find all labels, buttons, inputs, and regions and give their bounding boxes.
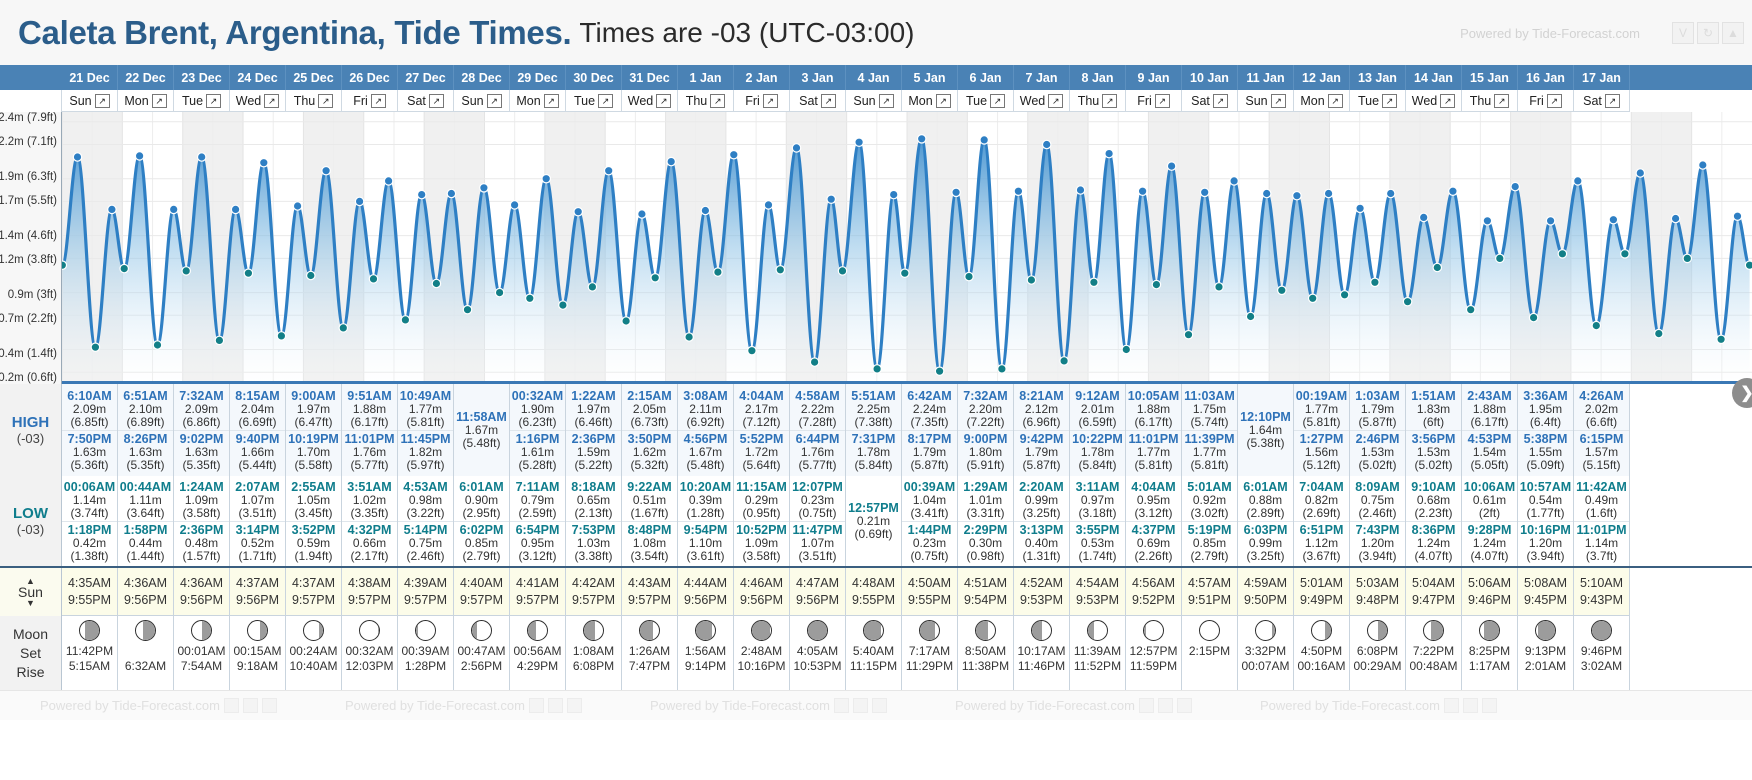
expand-icon[interactable]: ↗ — [1213, 94, 1228, 108]
date-header-20[interactable]: 10 Jan — [1182, 65, 1238, 90]
date-header-10[interactable]: 31 Dec — [622, 65, 678, 90]
low-tide-feet: (2.79ft) — [454, 550, 509, 563]
date-header-5[interactable]: 26 Dec — [342, 65, 398, 90]
high-tide-time: 4:56PM — [678, 432, 733, 446]
high-tide-meters: 1.77m — [1294, 403, 1349, 416]
high-tide-event: 4:56PM1.67m(5.48ft) — [678, 430, 733, 473]
weekday-text: Tue — [182, 94, 203, 108]
low-tide-feet: (2.46ft) — [1350, 507, 1405, 520]
sunset-time: 9:54PM — [964, 592, 1007, 609]
low-tide-event: 2:55AM1.05m(3.45ft) — [286, 479, 341, 521]
date-header-24[interactable]: 14 Jan — [1406, 65, 1462, 90]
low-tide-feet: (2.46ft) — [398, 550, 453, 563]
low-tide-meters: 0.44m — [118, 537, 173, 550]
high-tide-feet: (5.35ft) — [118, 459, 173, 472]
low-tide-cell-8: 7:11AM0.79m(2.59ft)6:54PM0.95m(3.12ft) — [510, 476, 566, 566]
weekday-cell-8: Mon↗ — [510, 90, 566, 112]
sun-cell-16: 4:51AM9:54PM — [958, 568, 1014, 616]
high-tide-event: 5:38PM1.55m(5.09ft) — [1518, 430, 1573, 473]
expand-icon[interactable]: ↗ — [429, 94, 444, 108]
high-tide-feet: (5.87ft) — [902, 459, 957, 472]
expand-icon[interactable]: ↗ — [544, 94, 559, 108]
moon-phase-icon — [863, 620, 884, 641]
y-tick-7: 0.7m (2.2ft) — [0, 313, 57, 325]
low-tide-meters: 0.59m — [286, 537, 341, 550]
expand-icon[interactable]: ↗ — [710, 94, 725, 108]
weekday-cell-22: Mon↗ — [1294, 90, 1350, 112]
low-tide-time: 12:07PM — [790, 480, 845, 494]
moon-cell-23: 6:08PM00:29AM — [1350, 616, 1406, 690]
date-header-0[interactable]: 21 Dec — [62, 65, 118, 90]
high-tide-meters: 1.76m — [790, 446, 845, 459]
high-tide-feet: (6.47ft) — [286, 416, 341, 429]
sunrise-time: 5:08AM — [1524, 575, 1567, 592]
sunrise-time: 5:04AM — [1412, 575, 1455, 592]
sunrise-time: 4:36AM — [124, 575, 167, 592]
weekday-cell-23: Tue↗ — [1350, 90, 1406, 112]
footer-powered-4: Powered by Tide-Forecast.com — [955, 698, 1192, 713]
expand-icon[interactable]: ↗ — [1440, 94, 1455, 108]
moonset-time: 7:17AM — [909, 644, 950, 659]
high-tide-time: 4:58AM — [790, 389, 845, 403]
high-tide-time: 5:51AM — [846, 389, 901, 403]
low-tide-event: 5:01AM0.92m(3.02ft) — [1182, 479, 1237, 521]
low-tide-meters: 1.24m — [1406, 537, 1461, 550]
expand-icon[interactable]: ↗ — [1494, 94, 1509, 108]
date-header-11[interactable]: 1 Jan — [678, 65, 734, 90]
low-tide-meters: 0.29m — [734, 494, 789, 507]
sunset-time: 9:56PM — [236, 592, 279, 609]
low-tide-time: 11:01PM — [1574, 523, 1629, 537]
high-tide-cell-1: 6:51AM2.10m(6.89ft)8:26PM1.63m(5.35ft) — [118, 384, 174, 476]
tide-curve-chart[interactable] — [62, 112, 1752, 384]
sun-cell-23: 5:03AM9:48PM — [1350, 568, 1406, 616]
footer-badge-alert-icon — [872, 698, 887, 713]
high-tide-meters: 1.75m — [1182, 403, 1237, 416]
weekday-cell-19: Fri↗ — [1126, 90, 1182, 112]
high-tide-time: 10:22PM — [1070, 432, 1125, 446]
high-tide-cell-9: 1:22AM1.97m(6.46ft)2:36PM1.59m(5.22ft) — [566, 384, 622, 476]
low-tide-cell-23: 8:09AM0.75m(2.46ft)7:43PM1.20m(3.94ft) — [1350, 476, 1406, 566]
low-tide-time: 10:16PM — [1518, 523, 1573, 537]
expand-icon[interactable]: ↗ — [1328, 94, 1343, 108]
date-header-13[interactable]: 3 Jan — [790, 65, 846, 90]
low-tide-time: 1:24AM — [174, 480, 229, 494]
low-tide-columns: 00:06AM1.14m(3.74ft)1:18PM0.42m(1.38ft)0… — [62, 476, 1752, 566]
date-header-1[interactable]: 22 Dec — [118, 65, 174, 90]
high-tide-event: 7:32AM2.20m(7.22ft) — [958, 388, 1013, 430]
moon-phase-icon — [1479, 620, 1500, 641]
low-tide-time: 1:29AM — [958, 480, 1013, 494]
expand-icon[interactable]: ↗ — [598, 94, 613, 108]
low-label-tz: (-03) — [17, 522, 44, 537]
low-tide-time: 2:29PM — [958, 523, 1013, 537]
date-header-18[interactable]: 8 Jan — [1070, 65, 1126, 90]
high-tide-time: 8:15AM — [230, 389, 285, 403]
high-tide-meters: 1.78m — [846, 446, 901, 459]
expand-icon[interactable]: ↗ — [206, 94, 221, 108]
moonrise-time: 6:08PM — [573, 659, 614, 674]
sunset-time: 9:55PM — [852, 592, 895, 609]
sunset-time: 9:56PM — [796, 592, 839, 609]
weekday-text: Sun — [69, 94, 91, 108]
moonset-time: 10:17AM — [1017, 644, 1065, 659]
low-tide-feet: (2.79ft) — [1182, 550, 1237, 563]
footer-badge-refresh-icon — [1463, 698, 1478, 713]
moon-cell-17: 10:17AM11:46PM — [1014, 616, 1070, 690]
low-tide-feet: (0.69ft) — [846, 528, 901, 541]
expand-icon[interactable]: ↗ — [1271, 94, 1286, 108]
low-tide-event: 10:06AM0.61m(2ft) — [1462, 479, 1517, 521]
sunset-time: 9:50PM — [1244, 592, 1287, 609]
low-tide-event: 10:20AM0.39m(1.28ft) — [678, 479, 733, 521]
low-tide-time: 10:57AM — [1518, 480, 1573, 494]
date-header-16[interactable]: 6 Jan — [958, 65, 1014, 90]
low-tide-time: 2:55AM — [286, 480, 341, 494]
sun-cell-21: 4:59AM9:50PM — [1238, 568, 1294, 616]
high-tide-meters: 1.77m — [1182, 446, 1237, 459]
low-tide-meters: 0.88m — [1238, 494, 1293, 507]
low-tide-feet: (3.22ft) — [398, 507, 453, 520]
date-header-7[interactable]: 28 Dec — [454, 65, 510, 90]
expand-icon[interactable]: ↗ — [318, 94, 333, 108]
low-tide-time: 11:42AM — [1574, 480, 1629, 494]
high-tide-meters: 1.63m — [118, 446, 173, 459]
moon-cell-16: 8:50AM11:38PM — [958, 616, 1014, 690]
low-label-text: LOW — [13, 505, 48, 522]
y-tick-1: 2.2m (7.1ft) — [0, 136, 57, 148]
expand-icon[interactable]: ↗ — [821, 94, 836, 108]
low-tide-time: 9:22AM — [622, 480, 677, 494]
high-tide-meters: 2.17m — [734, 403, 789, 416]
high-tide-event: 5:52PM1.72m(5.64ft) — [734, 430, 789, 473]
footer-badge-refresh-icon — [853, 698, 868, 713]
low-tide-meters: 0.23m — [902, 537, 957, 550]
weekday-cell-25: Thu↗ — [1462, 90, 1518, 112]
high-tide-feet: (5.38ft) — [1238, 437, 1293, 450]
high-tide-feet: (5.91ft) — [958, 459, 1013, 472]
moonset-time: 8:25PM — [1469, 644, 1510, 659]
weekday-row: Sun↗Mon↗Tue↗Wed↗Thu↗Fri↗Sat↗Sun↗Mon↗Tue↗… — [0, 90, 1752, 112]
low-tide-meters: 1.14m — [1574, 537, 1629, 550]
sunrise-time: 4:37AM — [292, 575, 335, 592]
low-tide-feet: (1.6ft) — [1574, 507, 1629, 520]
low-tide-cell-14: 12:57PM0.21m(0.69ft) — [846, 476, 902, 566]
expand-icon[interactable]: ↗ — [264, 94, 279, 108]
high-tide-cell-20: 11:03AM1.75m(5.74ft)11:39PM1.77m(5.81ft) — [1182, 384, 1238, 476]
low-tide-meters: 0.30m — [958, 537, 1013, 550]
high-tide-meters: 2.01m — [1070, 403, 1125, 416]
sunrise-time: 4:37AM — [236, 575, 279, 592]
high-tide-meters: 2.02m — [1574, 403, 1629, 416]
moonrise-time: 11:46PM — [1018, 659, 1065, 674]
expand-icon[interactable]: ↗ — [487, 94, 502, 108]
high-tide-feet: (5.48ft) — [454, 437, 509, 450]
sunrise-time: 4:40AM — [460, 575, 503, 592]
high-tide-meters: 1.95m — [1518, 403, 1573, 416]
high-tide-time: 2:15AM — [622, 389, 677, 403]
expand-icon[interactable]: ↗ — [152, 94, 167, 108]
weekday-text: Tue — [966, 94, 987, 108]
high-tide-feet: (5.36ft) — [62, 459, 117, 472]
low-tide-time: 6:01AM — [454, 480, 509, 494]
high-tide-feet: (5.48ft) — [678, 459, 733, 472]
weekday-cell-12: Fri↗ — [734, 90, 790, 112]
high-tide-time: 11:58AM — [454, 410, 509, 424]
high-tide-meters: 1.79m — [902, 446, 957, 459]
high-tide-cell-26: 3:36AM1.95m(6.4ft)5:38PM1.55m(5.09ft) — [1518, 384, 1574, 476]
expand-icon[interactable]: ↗ — [879, 94, 894, 108]
y-tick-6: 0.9m (3ft) — [8, 289, 57, 301]
moonset-label-text: Set — [20, 644, 41, 663]
low-tide-time: 9:28PM — [1462, 523, 1517, 537]
low-tide-feet: (3.31ft) — [958, 507, 1013, 520]
date-header-2[interactable]: 23 Dec — [174, 65, 230, 90]
weekday-text: Fri — [1529, 94, 1544, 108]
date-header-26[interactable]: 16 Jan — [1518, 65, 1574, 90]
footer-badge-refresh-icon — [548, 698, 563, 713]
high-tide-feet: (7.12ft) — [734, 416, 789, 429]
expand-icon[interactable]: ↗ — [371, 94, 386, 108]
date-header-8[interactable]: 29 Dec — [510, 65, 566, 90]
sun-cell-22: 5:01AM9:49PM — [1294, 568, 1350, 616]
sunset-time: 9:53PM — [1076, 592, 1119, 609]
low-tide-time: 4:37PM — [1126, 523, 1181, 537]
date-header-21[interactable]: 11 Jan — [1238, 65, 1294, 90]
moon-phase-icon — [1535, 620, 1556, 641]
low-tide-feet: (3.41ft) — [902, 507, 957, 520]
expand-icon[interactable]: ↗ — [936, 94, 951, 108]
low-tide-event: 4:32PM0.66m(2.17ft) — [342, 521, 397, 564]
moon-phase-icon — [247, 620, 268, 641]
low-tide-meters: 0.79m — [510, 494, 565, 507]
moon-label: Moon Set Rise — [0, 616, 62, 690]
low-tide-event: 9:28PM1.24m(4.07ft) — [1462, 521, 1517, 564]
weekday-corner — [0, 90, 62, 112]
high-tide-feet: (6.85ft) — [62, 416, 117, 429]
high-tide-cell-17: 8:21AM2.12m(6.96ft)9:42PM1.79m(5.87ft) — [1014, 384, 1070, 476]
date-header-25[interactable]: 15 Jan — [1462, 65, 1518, 90]
weekday-text: Sun — [461, 94, 483, 108]
low-tide-event: 7:53PM1.03m(3.38ft) — [566, 521, 621, 564]
low-tide-meters: 1.11m — [118, 494, 173, 507]
high-tide-feet: (5.15ft) — [1574, 459, 1629, 472]
low-tide-event: 5:14PM0.75m(2.46ft) — [398, 521, 453, 564]
low-tide-time: 9:54PM — [678, 523, 733, 537]
expand-icon[interactable]: ↗ — [1547, 94, 1562, 108]
high-tide-event: 11:01PM1.76m(5.77ft) — [342, 430, 397, 473]
low-tide-time: 3:55PM — [1070, 523, 1125, 537]
low-tide-meters: 0.54m — [1518, 494, 1573, 507]
date-header-23[interactable]: 13 Jan — [1350, 65, 1406, 90]
moon-cell-9: 1:08AM6:08PM — [566, 616, 622, 690]
low-tide-feet: (3.7ft) — [1574, 550, 1629, 563]
high-tide-feet: (5.35ft) — [174, 459, 229, 472]
low-tide-feet: (3.25ft) — [1238, 550, 1293, 563]
weekday-columns: Sun↗Mon↗Tue↗Wed↗Thu↗Fri↗Sat↗Sun↗Mon↗Tue↗… — [62, 90, 1752, 112]
expand-icon[interactable]: ↗ — [656, 94, 671, 108]
expand-icon[interactable]: ↗ — [1605, 94, 1620, 108]
badge-alert-icon: ▲ — [1722, 22, 1744, 44]
moon-cell-3: 00:15AM9:18AM — [230, 616, 286, 690]
low-tide-feet: (1.71ft) — [230, 550, 285, 563]
moon-row: Moon Set Rise 11:42PM5:15AM 6:32AM00:01A… — [0, 616, 1752, 690]
high-tide-time: 1:03AM — [1350, 389, 1405, 403]
high-tide-event: 8:21AM2.12m(6.96ft) — [1014, 388, 1069, 430]
high-tide-meters: 1.77m — [398, 403, 453, 416]
low-tide-meters: 0.61m — [1462, 494, 1517, 507]
high-tide-event: 1:51AM1.83m(6ft) — [1406, 388, 1461, 430]
expand-icon[interactable]: ↗ — [763, 94, 778, 108]
moonrise-time: 1:17AM — [1469, 659, 1510, 674]
low-tide-event: 1:24AM1.09m(3.58ft) — [174, 479, 229, 521]
sun-cell-7: 4:40AM9:57PM — [454, 568, 510, 616]
high-tide-cell-27: 4:26AM2.02m(6.6ft)6:15PM1.57m(5.15ft) — [1574, 384, 1630, 476]
high-tide-time: 7:50PM — [62, 432, 117, 446]
low-tide-meters: 0.49m — [1574, 494, 1629, 507]
sun-columns: 4:35AM9:55PM4:36AM9:56PM4:36AM9:56PM4:37… — [62, 568, 1752, 616]
sun-cell-10: 4:43AM9:57PM — [622, 568, 678, 616]
low-tide-time: 12:57PM — [846, 501, 901, 515]
low-tide-event: 6:02PM0.85m(2.79ft) — [454, 521, 509, 564]
expand-icon[interactable]: ↗ — [1048, 94, 1063, 108]
badge-refresh-icon: ↻ — [1697, 22, 1719, 44]
low-tide-cell-2: 1:24AM1.09m(3.58ft)2:36PM0.48m(1.57ft) — [174, 476, 230, 566]
moonset-time: 5:40AM — [853, 644, 894, 659]
sunset-time: 9:57PM — [292, 592, 335, 609]
sunset-time: 9:55PM — [908, 592, 951, 609]
sun-label-text: Sun — [18, 586, 43, 599]
footer-badge-refresh-icon — [1158, 698, 1173, 713]
moonrise-time: 11:15PM — [850, 659, 897, 674]
high-tide-time: 11:39PM — [1182, 432, 1237, 446]
high-tide-meters: 1.62m — [622, 446, 677, 459]
date-header-15[interactable]: 5 Jan — [902, 65, 958, 90]
high-tide-feet: (5.28ft) — [510, 459, 565, 472]
high-tide-meters: 1.57m — [1574, 446, 1629, 459]
moon-phase-icon — [1591, 620, 1612, 641]
high-tide-cell-23: 1:03AM1.79m(5.87ft)2:46PM1.53m(5.02ft) — [1350, 384, 1406, 476]
high-tide-meters: 2.09m — [174, 403, 229, 416]
sunset-time: 9:56PM — [124, 592, 167, 609]
low-tide-feet: (3.94ft) — [1518, 550, 1573, 563]
low-tide-meters: 1.09m — [734, 537, 789, 550]
weekday-text: Thu — [1470, 94, 1492, 108]
date-header-17[interactable]: 7 Jan — [1014, 65, 1070, 90]
low-tide-event: 7:11AM0.79m(2.59ft) — [510, 479, 565, 521]
high-tide-feet: (6.46ft) — [566, 416, 621, 429]
high-tide-event: 8:17PM1.79m(5.87ft) — [902, 430, 957, 473]
high-tide-event: 10:49AM1.77m(5.81ft) — [398, 388, 453, 430]
high-tide-feet: (6.96ft) — [1014, 416, 1069, 429]
sunset-time: 9:49PM — [1300, 592, 1343, 609]
high-tide-meters: 1.80m — [958, 446, 1013, 459]
low-tide-time: 8:18AM — [566, 480, 621, 494]
date-header-3[interactable]: 24 Dec — [230, 65, 286, 90]
moon-cell-18: 11:39AM11:52PM — [1070, 616, 1126, 690]
low-tide-meters: 0.95m — [1126, 494, 1181, 507]
moonrise-time — [1208, 659, 1211, 674]
high-tide-time: 4:53PM — [1462, 432, 1517, 446]
high-tide-event: 10:22PM1.78m(5.84ft) — [1070, 430, 1125, 473]
expand-icon[interactable]: ↗ — [990, 94, 1005, 108]
moon-cell-20: 2:15PM — [1182, 616, 1238, 690]
low-tide-meters: 0.68m — [1406, 494, 1461, 507]
expand-icon[interactable]: ↗ — [95, 94, 110, 108]
moon-phase-icon — [583, 620, 604, 641]
low-tide-meters: 0.48m — [174, 537, 229, 550]
high-tide-event: 1:16PM1.61m(5.28ft) — [510, 430, 565, 473]
date-header-9[interactable]: 30 Dec — [566, 65, 622, 90]
low-tide-event: 00:06AM1.14m(3.74ft) — [62, 479, 117, 521]
low-tide-feet: (0.95ft) — [734, 507, 789, 520]
date-header-27[interactable]: 17 Jan — [1574, 65, 1630, 90]
weekday-text: Mon — [908, 94, 932, 108]
high-tide-event: 10:05AM1.88m(6.17ft) — [1126, 388, 1181, 430]
low-tide-time: 7:53PM — [566, 523, 621, 537]
expand-icon[interactable]: ↗ — [1102, 94, 1117, 108]
high-tide-meters: 1.88m — [1126, 403, 1181, 416]
expand-icon[interactable]: ↗ — [1382, 94, 1397, 108]
high-tide-event: 4:26AM2.02m(6.6ft) — [1574, 388, 1629, 430]
low-tide-cell-17: 2:20AM0.99m(3.25ft)3:13PM0.40m(1.31ft) — [1014, 476, 1070, 566]
high-tide-time: 8:17PM — [902, 432, 957, 446]
high-tide-meters: 1.61m — [510, 446, 565, 459]
high-tide-event: 9:00PM1.80m(5.91ft) — [958, 430, 1013, 473]
low-tide-feet: (2.59ft) — [510, 507, 565, 520]
high-tide-event: 6:10AM2.09m(6.85ft) — [62, 388, 117, 430]
moonrise-time: 12:03PM — [345, 659, 393, 674]
date-header-19[interactable]: 9 Jan — [1126, 65, 1182, 90]
high-tide-time: 9:51AM — [342, 389, 397, 403]
weekday-cell-20: Sat↗ — [1182, 90, 1238, 112]
date-header-6[interactable]: 27 Dec — [398, 65, 454, 90]
moon-cell-24: 7:22PM00:48AM — [1406, 616, 1462, 690]
low-tide-feet: (0.75ft) — [902, 550, 957, 563]
low-tide-time: 10:52PM — [734, 523, 789, 537]
sun-cell-1: 4:36AM9:56PM — [118, 568, 174, 616]
sunrise-time: 4:56AM — [1132, 575, 1175, 592]
high-tide-label: HIGH (-03) — [0, 384, 62, 476]
moon-cell-22: 4:50PM00:16AM — [1294, 616, 1350, 690]
low-tide-cell-25: 10:06AM0.61m(2ft)9:28PM1.24m(4.07ft) — [1462, 476, 1518, 566]
high-tide-event: 8:26PM1.63m(5.35ft) — [118, 430, 173, 473]
y-tick-2: 1.9m (6.3ft) — [0, 171, 57, 183]
sunrise-time: 4:52AM — [1020, 575, 1063, 592]
moon-label-text: Moon — [13, 625, 48, 644]
moon-cell-6: 00:39AM1:28PM — [398, 616, 454, 690]
high-tide-feet: (5.81ft) — [1294, 416, 1349, 429]
sunrise-time: 4:46AM — [740, 575, 783, 592]
low-tide-time: 4:32PM — [342, 523, 397, 537]
low-tide-event: 00:39AM1.04m(3.41ft) — [902, 479, 957, 521]
moon-phase-icon — [527, 620, 548, 641]
date-header-22[interactable]: 12 Jan — [1294, 65, 1350, 90]
moonset-time: 4:50PM — [1301, 644, 1342, 659]
low-tide-meters: 0.66m — [342, 537, 397, 550]
high-tide-cell-8: 00:32AM1.90m(6.23ft)1:16PM1.61m(5.28ft) — [510, 384, 566, 476]
date-header-4[interactable]: 25 Dec — [286, 65, 342, 90]
sun-cell-26: 5:08AM9:45PM — [1518, 568, 1574, 616]
expand-icon[interactable]: ↗ — [1155, 94, 1170, 108]
low-tide-feet: (1.67ft) — [622, 507, 677, 520]
low-tide-time: 6:03PM — [1238, 523, 1293, 537]
date-header-14[interactable]: 4 Jan — [846, 65, 902, 90]
date-header-12[interactable]: 2 Jan — [734, 65, 790, 90]
high-tide-feet: (6.89ft) — [118, 416, 173, 429]
sun-cell-6: 4:39AM9:57PM — [398, 568, 454, 616]
high-tide-feet: (5.22ft) — [566, 459, 621, 472]
